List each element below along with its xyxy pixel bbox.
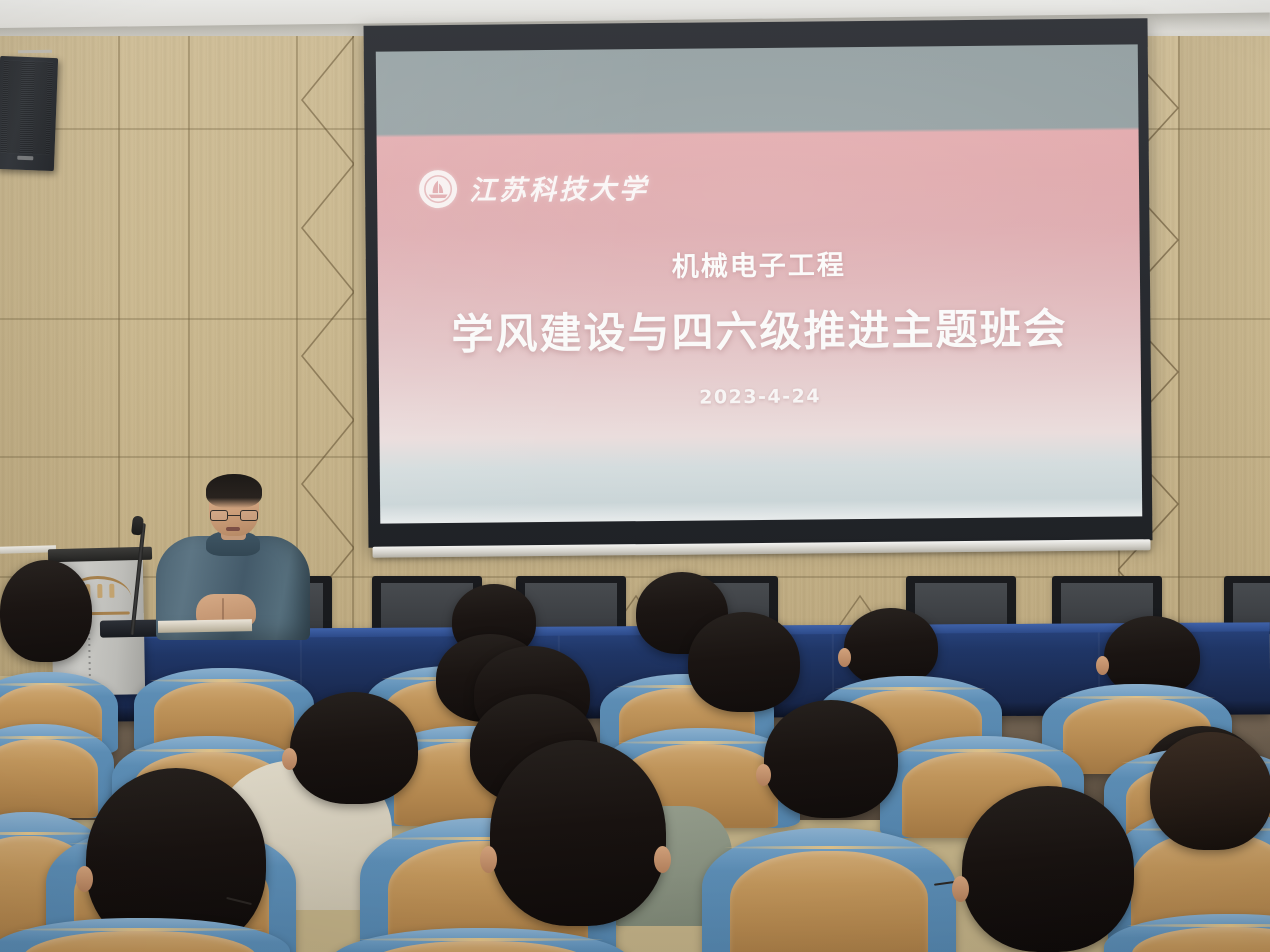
projection-screen: 江苏科技大学 机械电子工程 学风建设与四六级推进主题班会 2023-4-24 bbox=[364, 18, 1153, 548]
attendee-ear bbox=[952, 876, 969, 902]
microphone-capsule-icon bbox=[131, 515, 144, 535]
presenter-glasses-icon bbox=[210, 510, 258, 521]
attendee-head bbox=[764, 700, 898, 818]
lectern-top-edge bbox=[48, 547, 152, 563]
attendee-ear bbox=[282, 748, 297, 770]
presenter-hair bbox=[206, 474, 262, 508]
auditorium-seat[interactable] bbox=[702, 828, 956, 952]
speaker-grill bbox=[0, 60, 53, 155]
slide-date: 2023-4-24 bbox=[379, 382, 1141, 411]
attendee-head bbox=[0, 560, 92, 662]
slide-subtitle: 机械电子工程 bbox=[378, 240, 1140, 286]
presenter-hand-crease bbox=[222, 598, 224, 622]
lectern-dot-strip bbox=[88, 632, 91, 684]
university-name: 江苏科技大学 bbox=[469, 167, 649, 208]
slide-title: 学风建设与四六级推进主题班会 bbox=[378, 294, 1141, 362]
speaker-badge bbox=[17, 156, 33, 161]
attendee-head-foreground bbox=[962, 786, 1134, 952]
university-logo: 江苏科技大学 bbox=[419, 167, 649, 208]
attendee-ear bbox=[654, 846, 671, 873]
attendee-ear bbox=[480, 846, 497, 873]
sailboat-emblem-icon bbox=[419, 169, 457, 207]
speaker-bracket bbox=[18, 50, 52, 54]
presenter-notebook bbox=[158, 619, 252, 633]
auditorium-photo: 江苏科技大学 机械电子工程 学风建设与四六级推进主题班会 2023-4-24 bbox=[0, 0, 1270, 952]
attendee-head-foreground bbox=[490, 740, 666, 926]
attendee-head bbox=[844, 608, 938, 686]
wall-speaker-icon bbox=[0, 56, 58, 171]
attendee-ear bbox=[756, 764, 771, 786]
attendee-head bbox=[290, 692, 418, 804]
attendee-ear bbox=[1096, 656, 1109, 675]
attendee-ear bbox=[838, 648, 851, 667]
auditorium-seat[interactable] bbox=[0, 724, 114, 818]
attendee-head bbox=[1150, 732, 1270, 850]
screen-surface: 江苏科技大学 机械电子工程 学风建设与四六级推进主题班会 2023-4-24 bbox=[376, 44, 1142, 523]
attendee-head bbox=[688, 612, 800, 712]
attendee-ear bbox=[76, 866, 93, 892]
presenter-mouth bbox=[226, 527, 240, 531]
